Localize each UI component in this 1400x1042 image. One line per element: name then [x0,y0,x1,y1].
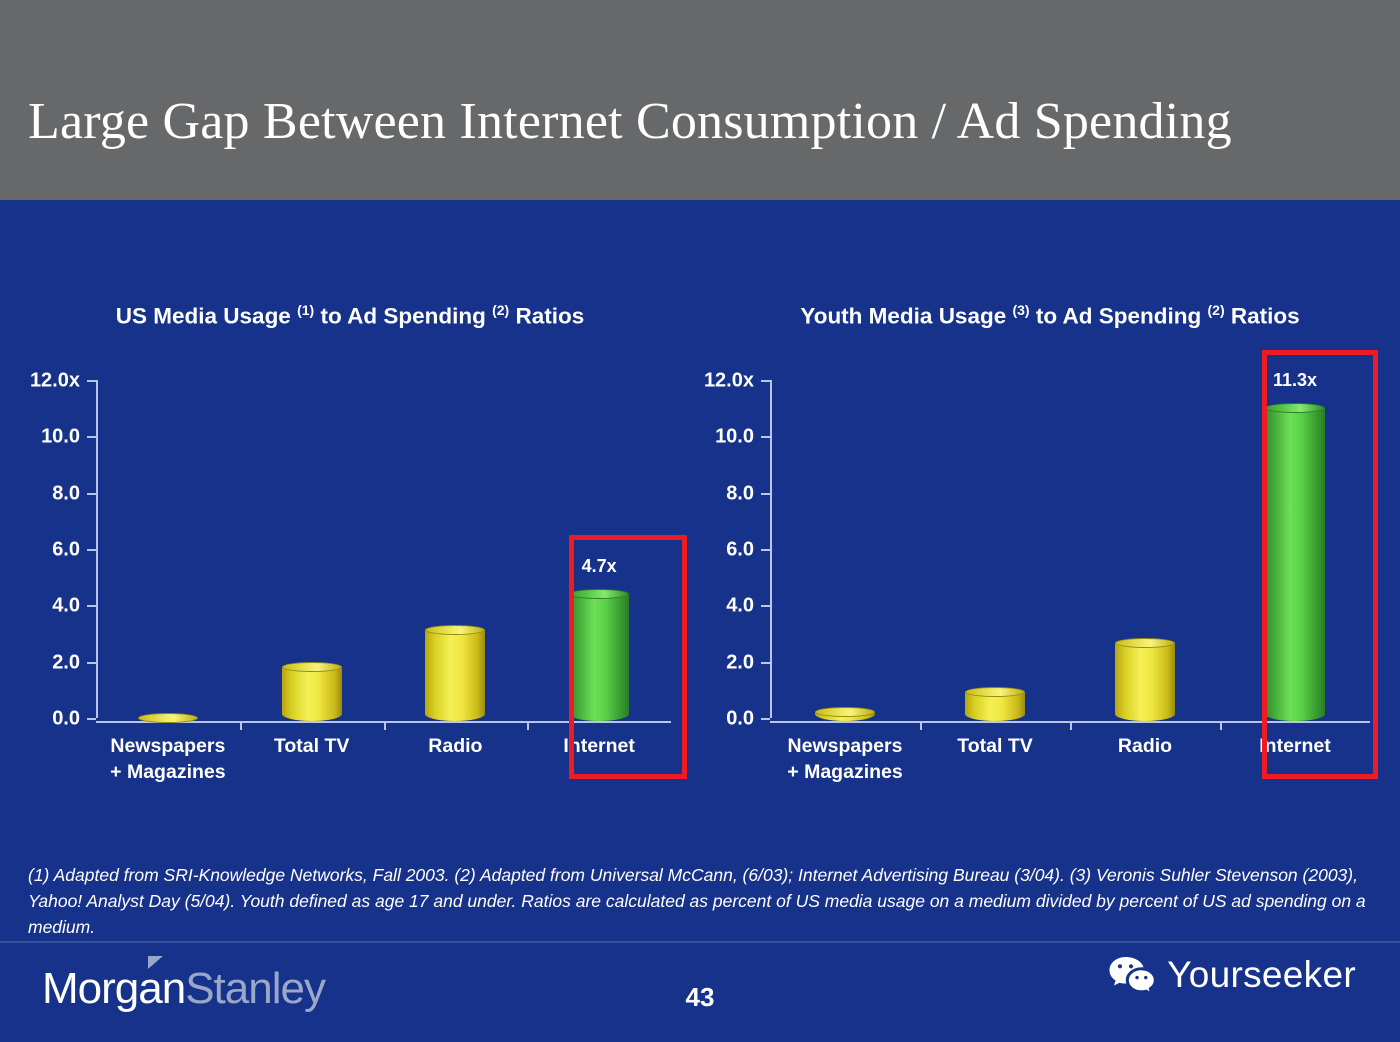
y-axis-tick [87,436,96,438]
x-axis-category-label: Newspapers+ Magazines [110,733,225,785]
x-axis-tick [527,721,529,730]
wechat-icon [1108,955,1156,995]
bar-internet [1265,403,1325,721]
x-axis-category-line: Newspapers [110,733,225,759]
y-axis-tick-label: 0.0 [52,708,80,731]
x-axis-category-line: Radio [1118,733,1172,759]
x-axis-tick [920,721,922,730]
bar-radio [1115,638,1175,721]
y-axis-tick-label: 4.0 [52,595,80,618]
bar-newspapers-magazines [138,713,198,721]
bar-body [569,594,629,721]
x-axis-tick [240,721,242,730]
plot-area-youth: 0.02.04.06.08.010.012.0x 11.3x Newspaper… [770,375,1370,723]
y-axis-tick [761,718,770,720]
slide-header: Large Gap Between Internet Consumption /… [0,0,1400,200]
y-axis-tick [87,605,96,607]
x-axis-category-line: Total TV [957,733,1032,759]
y-axis-tick-label: 4.0 [726,595,754,618]
y-axis-tick [761,493,770,495]
bar-radio [425,625,485,721]
footnote-ref-2: (2) [1208,302,1225,318]
slide-body: US Media Usage (1) to Ad Spending (2) Ra… [0,200,1400,1042]
brand-name: Yourseeker [1167,954,1356,996]
bar-cap [1115,638,1175,648]
y-axis-tick [761,662,770,664]
chart-title-text-b: to Ad Spending [314,304,492,329]
chart-title-text-a: US Media Usage [116,304,297,329]
plot-area-us: 0.02.04.06.08.010.012.0x 4.7x Newspapers… [96,375,671,723]
y-axis-tick-label: 2.0 [52,651,80,674]
chart-us-media-usage: US Media Usage (1) to Ad Spending (2) Ra… [0,200,700,820]
footnote-ref-3: (3) [1012,302,1029,318]
y-axis-tick [761,605,770,607]
x-axis-tick [1220,721,1222,730]
x-axis-category-line: Radio [428,733,482,759]
bar-body [1115,643,1175,721]
y-axis-tick [87,549,96,551]
y-axis-tick-label: 12.0x [704,370,754,393]
x-axis-category-label: Internet [563,733,635,759]
chart-title-text-c: Ratios [509,304,584,329]
bar-internet [569,589,629,721]
x-axis-tick [384,721,386,730]
y-axis-tick-label: 0.0 [726,708,754,731]
y-axis-tick-label: 10.0 [715,426,754,449]
y-axis-tick [87,662,96,664]
y-axis-tick-label: 2.0 [726,651,754,674]
x-axis-category-label: Internet [1259,733,1331,759]
x-axis-tick [1070,721,1072,730]
y-axis-line [96,380,98,718]
x-axis-category-line: + Magazines [110,759,225,785]
bar-value-label: 4.7x [582,556,617,577]
y-axis-tick-label: 6.0 [52,539,80,562]
y-axis-tick [761,549,770,551]
bar-cap [282,662,342,672]
x-axis-category-line: Internet [563,733,635,759]
chart-youth-media-usage: Youth Media Usage (3) to Ad Spending (2)… [700,200,1400,820]
y-axis-tick [87,718,96,720]
y-axis-tick-label: 8.0 [52,482,80,505]
bar-value-label: 11.3x [1273,370,1317,391]
chart-title-us: US Media Usage (1) to Ad Spending (2) Ra… [0,292,700,335]
x-axis-category-label: Radio [428,733,482,759]
bar-cap [815,707,875,717]
footnote-text: (1) Adapted from SRI-Knowledge Networks,… [28,862,1374,940]
x-axis-category-label: Radio [1118,733,1172,759]
x-axis-category-line: + Magazines [787,759,902,785]
y-axis-tick [761,436,770,438]
bar-body [282,667,342,721]
chart-title-text-b: to Ad Spending [1030,304,1208,329]
x-axis-category-line: Internet [1259,733,1331,759]
y-axis-tick-label: 12.0x [30,370,80,393]
bar-total-tv [282,662,342,721]
x-axis-category-line: Newspapers [787,733,902,759]
bar-cap [1265,403,1325,413]
x-axis-category-label: Newspapers+ Magazines [787,733,902,785]
x-axis-category-line: Total TV [274,733,349,759]
bar-total-tv [965,687,1025,721]
y-axis-tick-label: 8.0 [726,482,754,505]
slide-footer: MorganStanley 43 Yourseeker [0,942,1400,1042]
chart-title-text-c: Ratios [1225,304,1300,329]
y-axis-tick-label: 6.0 [726,539,754,562]
chart-title-youth: Youth Media Usage (3) to Ad Spending (2)… [700,292,1400,335]
bar-cap [569,589,629,599]
y-axis-line [770,380,772,718]
y-axis-tick-label: 10.0 [41,426,80,449]
y-axis-tick [87,493,96,495]
bar-body [425,630,485,721]
brand-watermark: Yourseeker [1108,954,1356,996]
x-axis-category-label: Total TV [957,733,1032,759]
y-axis-tick [87,380,96,382]
y-axis-tick [761,380,770,382]
morgan-stanley-triangle-icon [148,956,163,969]
bar-cap [425,625,485,635]
footnote-ref-2: (2) [492,302,509,318]
chart-title-text-a: Youth Media Usage [800,304,1012,329]
bar-cap [138,713,198,723]
x-axis-category-label: Total TV [274,733,349,759]
bar-cap [965,687,1025,697]
bar-newspapers-magazines [815,707,875,721]
bar-body [1265,408,1325,721]
footnote-ref-1: (1) [297,302,314,318]
page-title: Large Gap Between Internet Consumption /… [28,92,1232,151]
